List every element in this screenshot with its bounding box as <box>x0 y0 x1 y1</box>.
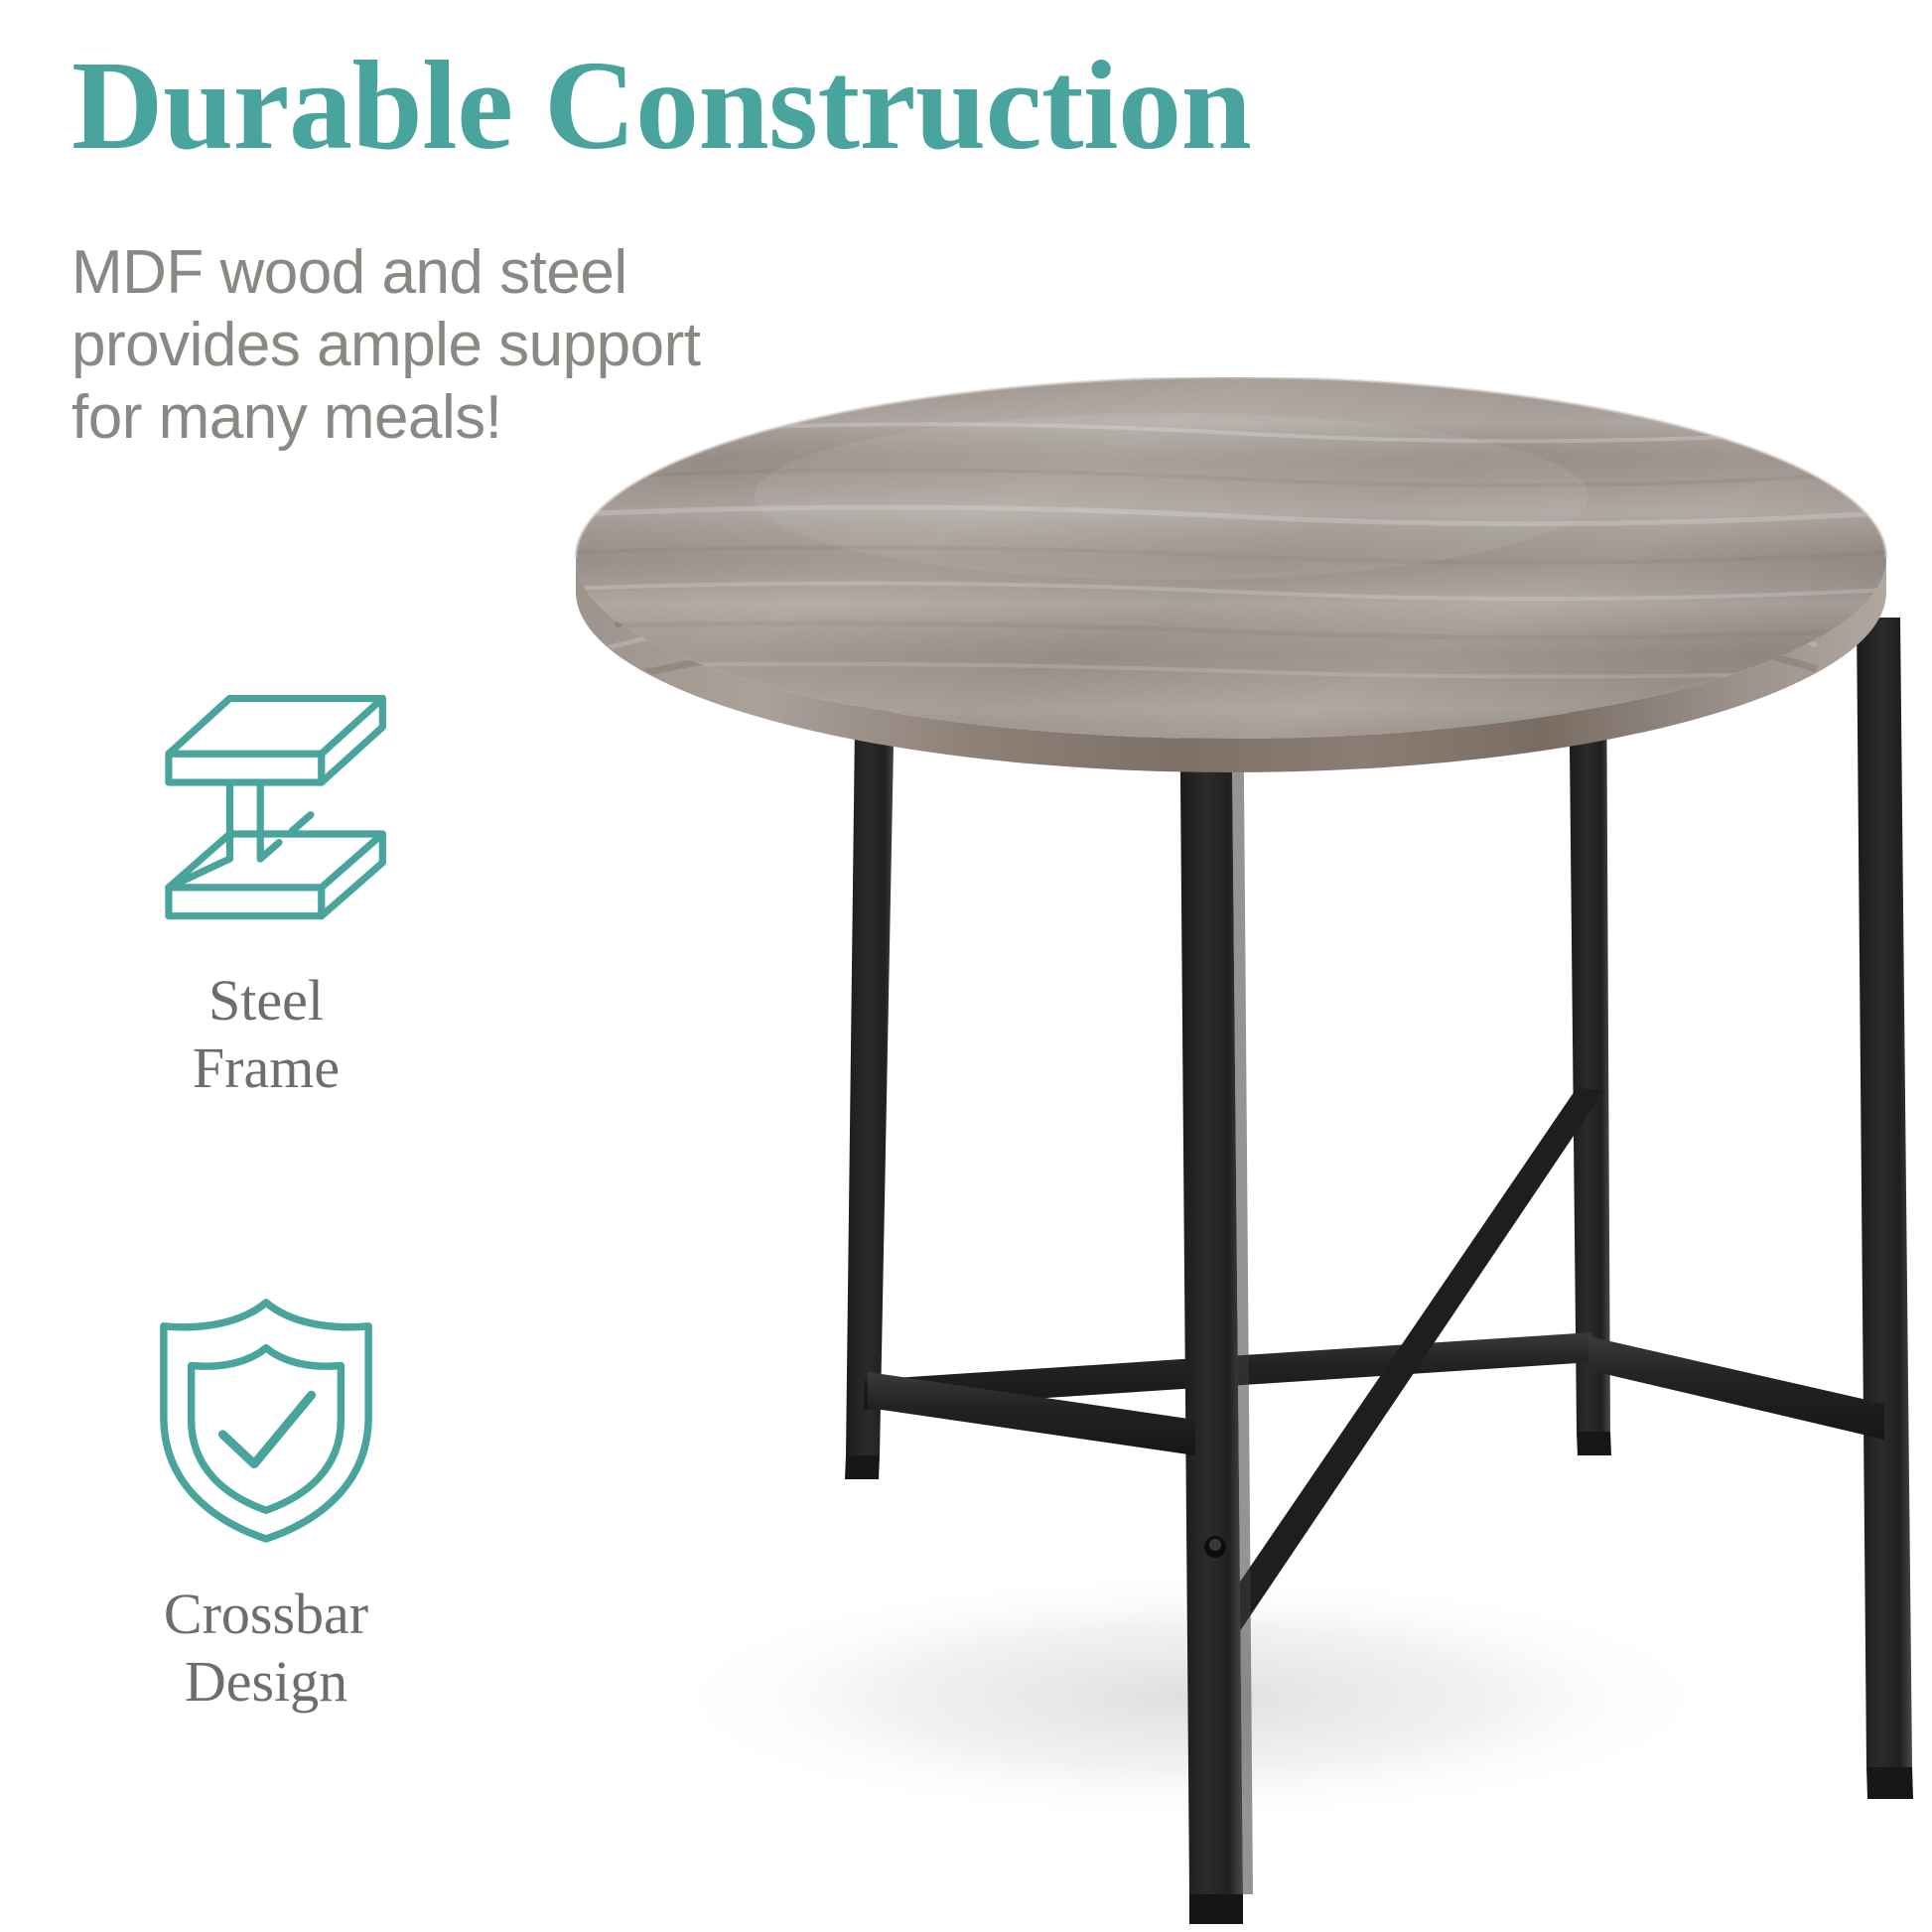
subtitle-line-2: provides ample support <box>71 309 700 381</box>
product-image <box>536 377 1926 1926</box>
feature-steel-frame: Steel Frame <box>48 685 484 1103</box>
crossbar-rail-right <box>1588 1336 1884 1440</box>
subtitle-line-1: MDF wood and steel <box>71 236 700 309</box>
marketing-image: Durable Construction MDF wood and steel … <box>0 0 1932 1932</box>
round-dining-table-illustration <box>536 377 1926 1926</box>
feature-caption: Steel Frame <box>48 967 484 1103</box>
feature-caption-line-2: Design <box>48 1648 484 1716</box>
table-leg-front-right <box>1857 618 1913 1799</box>
feature-caption-line-2: Frame <box>48 1035 484 1102</box>
feature-crossbar-design: Crossbar Design <box>48 1291 484 1717</box>
shield-check-icon <box>148 1291 384 1547</box>
i-beam-icon <box>142 685 390 933</box>
feature-caption: Crossbar Design <box>48 1581 484 1717</box>
feature-caption-line-1: Crossbar <box>48 1581 484 1648</box>
table-leg-rear-left <box>845 643 896 1479</box>
table-leg-front-center <box>1179 657 1253 1924</box>
page-title: Durable Construction <box>71 42 1251 169</box>
feature-caption-line-1: Steel <box>48 967 484 1035</box>
